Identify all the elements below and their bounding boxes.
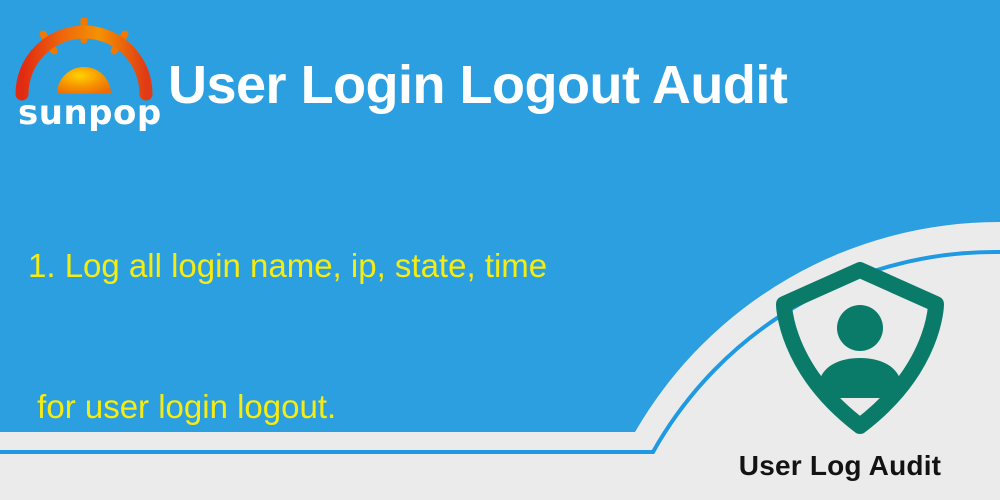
promo-banner: sunpop User Login Logout Audit 1. Log al… xyxy=(0,0,1000,500)
badge xyxy=(770,262,950,434)
page-title: User Login Logout Audit xyxy=(168,54,968,116)
sunpop-logo: sunpop xyxy=(12,18,158,128)
badge-caption: User Log Audit xyxy=(700,450,980,482)
feature-list: 1. Log all login name, ip, state, time f… xyxy=(28,148,678,500)
feature-item: for user login logout. xyxy=(28,383,678,430)
feature-item: 1. Log all login name, ip, state, time xyxy=(28,242,678,289)
sunpop-wordmark: sunpop xyxy=(18,96,158,130)
shield-user-icon xyxy=(770,262,950,434)
